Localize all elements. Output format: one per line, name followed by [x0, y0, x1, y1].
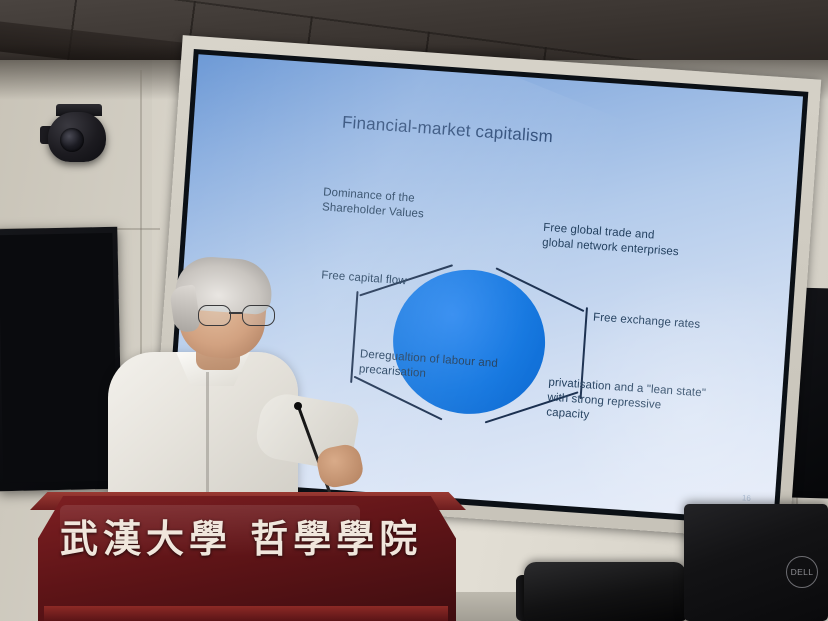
dell-logo: DELL — [786, 556, 818, 588]
lecture-hall-photo: Financial-market capitalism Dominance of… — [0, 0, 828, 621]
wall-display-left-screen — [0, 233, 118, 483]
screen-glare-hotspot — [551, 251, 803, 521]
glasses-icon — [198, 305, 278, 325]
glasses-lens-right — [242, 305, 275, 326]
chair — [524, 562, 686, 621]
pointer-tip — [294, 402, 302, 410]
podium-base — [44, 606, 448, 621]
podium-venue-text: 武漢大學 哲學學院 — [60, 508, 410, 563]
glasses-lens-left — [198, 305, 231, 326]
camera-lens-icon — [60, 128, 84, 152]
wall-display-left — [0, 227, 123, 492]
glasses-bridge — [229, 312, 242, 314]
